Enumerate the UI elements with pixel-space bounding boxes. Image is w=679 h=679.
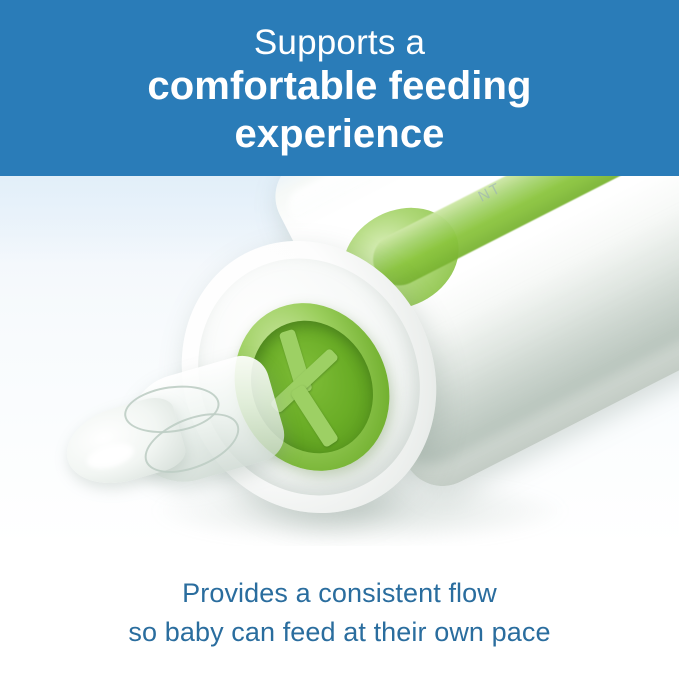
product-feature-image: Supports a comfortable feeding experienc… (0, 0, 679, 679)
caption-line-2: so baby can feed at their own pace (128, 613, 550, 651)
headline-line-3: experience (234, 111, 444, 158)
product-photo: NT (0, 176, 679, 546)
headline-line-1: Supports a (254, 22, 425, 63)
headline-line-2: comfortable feeding (147, 63, 531, 110)
caption-line-1: Provides a consistent flow (182, 574, 497, 612)
teat-highlight (84, 439, 136, 473)
caption-block: Provides a consistent flow so baby can f… (0, 546, 679, 679)
valve-spoke-c (290, 384, 339, 448)
headline-banner: Supports a comfortable feeding experienc… (0, 0, 679, 176)
